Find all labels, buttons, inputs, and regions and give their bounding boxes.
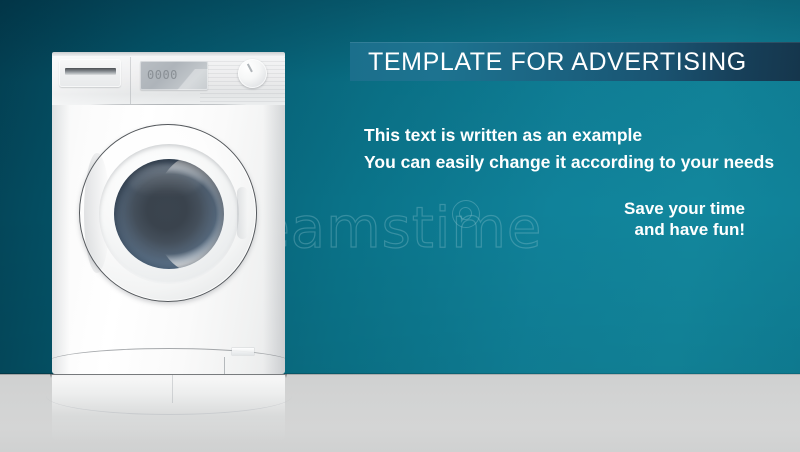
body-copy: This text is written as an example You c… bbox=[364, 122, 784, 176]
tagline: Save your time and have fun! bbox=[420, 198, 745, 240]
tagline-line-2: and have fun! bbox=[420, 219, 745, 240]
knob-pointer-mark bbox=[247, 64, 253, 73]
lower-panel-vertical-seam bbox=[224, 357, 225, 374]
detergent-drawer-handle[interactable] bbox=[65, 68, 116, 75]
detergent-drawer[interactable] bbox=[59, 59, 121, 87]
program-selector-knob[interactable] bbox=[238, 59, 267, 88]
lcd-display: 0000 bbox=[140, 61, 208, 90]
page-title: TEMPLATE FOR ADVERTISING bbox=[368, 44, 798, 80]
tagline-line-1: Save your time bbox=[420, 198, 745, 219]
door-inner-ring bbox=[99, 144, 239, 284]
washer-door[interactable] bbox=[79, 124, 257, 302]
body-copy-line-2: You can easily change it according to yo… bbox=[364, 149, 784, 175]
door-glass bbox=[114, 159, 224, 269]
door-handle-notch[interactable] bbox=[237, 187, 248, 239]
lower-panel-label bbox=[232, 348, 254, 355]
door-glass-inner-shadow bbox=[114, 159, 224, 269]
washing-machine: 0000 bbox=[52, 52, 285, 374]
lcd-display-gloss bbox=[140, 69, 208, 90]
body-copy-line-1: This text is written as an example bbox=[364, 122, 784, 148]
cabinet-right-shading bbox=[263, 105, 285, 374]
cabinet-left-shading bbox=[52, 105, 70, 374]
advertising-template-banner: dreamstime 0000 bbox=[0, 0, 800, 452]
